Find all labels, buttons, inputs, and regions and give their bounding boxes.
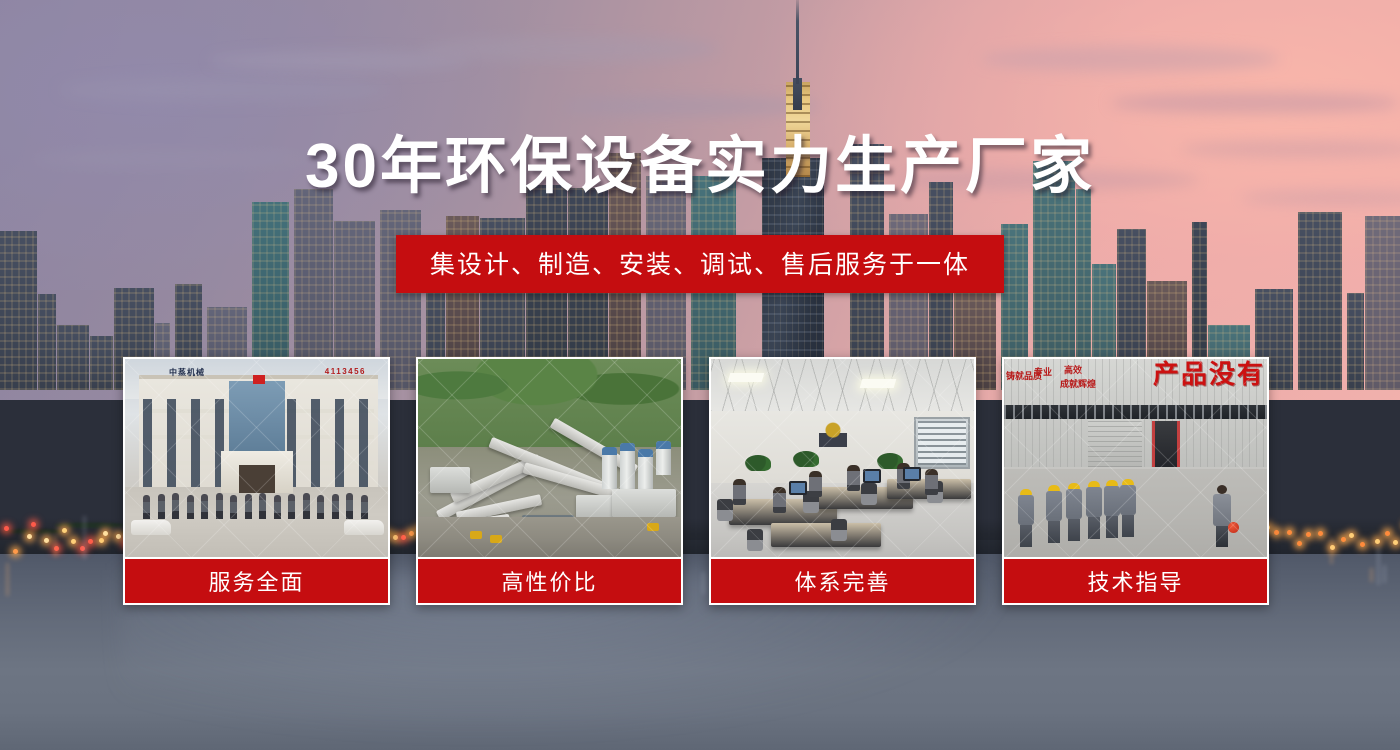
staff-figure (259, 493, 266, 519)
card-caption: 体系完善 (711, 557, 974, 603)
feature-card-row: 中蒸机械 4113456 服务全面 高性价比 (123, 357, 1273, 605)
street-light (88, 539, 93, 544)
plant-building (430, 467, 470, 493)
subtitle-banner-wrap: 集设计、制造、安装、调试、售后服务于一体 (0, 235, 1400, 293)
computer-monitor (903, 467, 921, 481)
street-light (27, 534, 32, 539)
worker-figure (1018, 489, 1034, 547)
storage-silo (620, 443, 635, 491)
staff-figure (172, 493, 179, 519)
employee-figure (733, 479, 746, 505)
factory-sign-small-2: 专业 (1034, 367, 1052, 377)
staff-figure (143, 495, 150, 519)
computer-monitor (863, 469, 881, 483)
feature-card-system[interactable]: 体系完善 (709, 357, 976, 605)
street-light (1385, 531, 1390, 536)
building-company-sign: 中蒸机械 (169, 367, 205, 378)
office-chair (861, 483, 877, 505)
street-light (1341, 537, 1346, 542)
office-chair (717, 499, 733, 521)
storage-silo (638, 449, 653, 489)
subtitle-banner: 集设计、制造、安装、调试、售后服务于一体 (396, 235, 1004, 293)
light-reflection (1377, 547, 1380, 585)
photo-office-building: 中蒸机械 4113456 (125, 359, 388, 557)
employee-figure (925, 469, 938, 495)
building (57, 325, 89, 390)
street-light (62, 528, 67, 533)
storage-silo (656, 441, 671, 475)
light-reflection (1370, 568, 1373, 582)
office-chair (747, 529, 763, 551)
staff-figure (288, 494, 295, 519)
computer-monitor (789, 481, 807, 495)
worker-figure (1086, 481, 1102, 539)
street-light (1274, 530, 1279, 535)
staff-figure (216, 493, 223, 519)
office-desk (771, 523, 881, 547)
storage-silo (602, 447, 617, 489)
staff-figure (201, 494, 208, 519)
building (90, 336, 113, 390)
light-reflection (1383, 565, 1386, 583)
factory-sign-small-3: 高效 (1064, 365, 1082, 375)
staff-figure (158, 494, 165, 519)
red-helmet-icon (1228, 522, 1239, 533)
photo-industrial-plant (418, 359, 681, 557)
street-light (31, 522, 36, 527)
street-light (1360, 542, 1365, 547)
building (38, 294, 56, 390)
worker-figure (1046, 485, 1062, 543)
staff-figure (332, 494, 339, 519)
staff-figure (317, 495, 324, 519)
card-caption: 技术指导 (1004, 557, 1267, 603)
photo-workers-briefing: 产品没有 铸就品质 专业 高效 成就辉煌 (1004, 359, 1267, 557)
card-caption: 服务全面 (125, 557, 388, 603)
street-light (1297, 541, 1302, 546)
light-reflection (1330, 537, 1333, 564)
staff-figure (346, 493, 353, 519)
employee-figure (773, 487, 786, 513)
street-light (116, 534, 121, 539)
street-light (44, 538, 49, 543)
street-light (99, 538, 104, 543)
street-light (71, 539, 76, 544)
employee-figure (847, 465, 860, 491)
street-light (1393, 540, 1398, 545)
street-light (4, 526, 9, 531)
employee-figure (809, 471, 822, 497)
worker-figure (1120, 479, 1136, 537)
building (1347, 293, 1364, 390)
factory-sign-small-4: 成就辉煌 (1060, 379, 1096, 389)
feature-card-guidance[interactable]: 产品没有 铸就品质 专业 高效 成就辉煌 技术指导 (1002, 357, 1269, 605)
staff-figure (361, 495, 368, 519)
building-phone-sign: 4113456 (325, 367, 366, 376)
street-light (103, 531, 108, 536)
staff-figure (274, 495, 281, 519)
light-reflection (54, 535, 57, 557)
street-light (1375, 539, 1380, 544)
worker-figure (1104, 480, 1120, 538)
staff-figure (303, 493, 310, 519)
factory-big-sign: 产品没有 (1153, 361, 1265, 387)
hero-banner: 30年环保设备实力生产厂家 集设计、制造、安装、调试、售后服务于一体 中蒸机械 … (0, 0, 1400, 750)
worker-figure (1066, 483, 1082, 541)
street-light (1349, 533, 1354, 538)
tower-antenna-spire (796, 0, 799, 84)
photo-office-interior (711, 359, 974, 557)
plant-building (612, 489, 676, 517)
feature-card-value[interactable]: 高性价比 (416, 357, 683, 605)
supervisor-figure (1213, 485, 1231, 547)
street-light (1306, 532, 1311, 537)
office-chair (831, 519, 847, 541)
feature-card-service[interactable]: 中蒸机械 4113456 服务全面 (123, 357, 390, 605)
staff-figure (187, 495, 194, 519)
light-reflection (6, 563, 9, 596)
street-light (1318, 531, 1323, 536)
street-light (13, 549, 18, 554)
staff-figure (230, 495, 237, 519)
light-reflection (83, 516, 86, 559)
card-caption: 高性价比 (418, 557, 681, 603)
staff-figure (245, 494, 252, 519)
street-light (1287, 530, 1292, 535)
page-title: 30年环保设备实力生产厂家 (0, 134, 1400, 199)
